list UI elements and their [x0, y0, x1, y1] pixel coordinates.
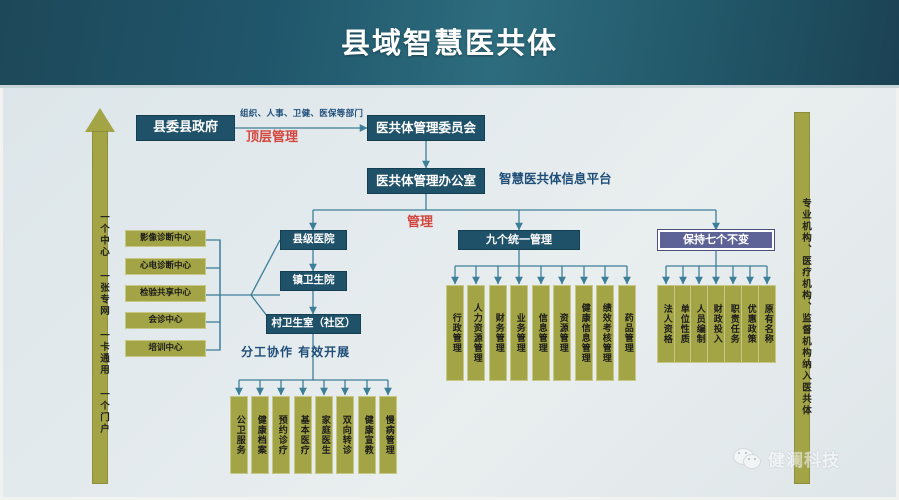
node-service-6[interactable]: 健康宣教 — [358, 396, 376, 474]
node-unified-4[interactable]: 信息管理 — [532, 285, 550, 381]
node-center-3[interactable]: 会诊中心 — [125, 312, 206, 329]
node-unchanged-4[interactable]: 职责任务 — [724, 285, 742, 363]
node-unchanged-2[interactable]: 人员编制 — [690, 285, 708, 363]
node-unchanged-3[interactable]: 财政投入 — [707, 285, 725, 363]
node-medical-consortium-office[interactable]: 医共体管理办公室 — [367, 168, 485, 194]
node-medical-consortium-committee[interactable]: 医共体管理委员会 — [367, 115, 485, 141]
node-nine-unified-title[interactable]: 九个统一管理 — [458, 230, 580, 250]
node-county-government[interactable]: 县委县政府 — [136, 115, 235, 141]
node-unchanged-6[interactable]: 原有名称 — [758, 285, 776, 363]
slide-root: 县域智慧医共体 — [0, 0, 899, 500]
one-center-arrow-label: 一个中心 一张专网 一卡通用 一个门户 — [92, 208, 108, 438]
node-unified-8[interactable]: 药品管理 — [618, 285, 636, 381]
node-unified-0[interactable]: 行政管理 — [446, 285, 464, 381]
node-center-4[interactable]: 培训中心 — [125, 340, 206, 357]
node-hospital-village[interactable]: 村卫生室（社区） — [266, 314, 361, 334]
watermark: 健澜科技 — [733, 446, 840, 471]
node-center-2[interactable]: 检验共享中心 — [125, 285, 206, 302]
departments-note: 组织、人事、卫健、医保等部门 — [240, 110, 368, 120]
node-hospital-town[interactable]: 镇卫生院 — [280, 271, 347, 291]
node-service-5[interactable]: 双向转诊 — [336, 396, 354, 474]
node-unchanged-0[interactable]: 法人资格 — [657, 285, 675, 363]
watermark-text: 健澜科技 — [768, 446, 840, 471]
node-unified-3[interactable]: 业务管理 — [510, 285, 528, 381]
node-center-0[interactable]: 影像诊断中心 — [125, 230, 206, 247]
institutions-bar: 专业机构、医疗机构、监督机构纳入医共体 — [791, 112, 813, 484]
division-cooperation-note: 分工协作 有效开展 — [241, 346, 350, 360]
node-service-3[interactable]: 基本医疗 — [294, 396, 312, 474]
node-service-2[interactable]: 预约诊疗 — [272, 396, 290, 474]
node-service-0[interactable]: 公卫服务 — [230, 396, 248, 474]
node-unified-7[interactable]: 绩效考核管理 — [596, 285, 614, 381]
one-center-arrow: 一个中心 一张专网 一卡通用 一个门户 — [85, 108, 115, 484]
node-seven-unchanged-title[interactable]: 保持七个不变 — [658, 230, 774, 250]
diagram-canvas: 一个中心 一张专网 一卡通用 一个门户 专业机构、医疗机构、监督机构纳入医共体 … — [0, 88, 899, 500]
platform-label: 智慧医共体信息平台 — [499, 172, 612, 186]
node-service-7[interactable]: 慢病管理 — [379, 396, 397, 474]
node-service-1[interactable]: 健康档案 — [251, 396, 269, 474]
slide-header: 县域智慧医共体 — [0, 0, 899, 85]
node-unified-1[interactable]: 人力资源管理 — [467, 285, 485, 381]
node-unchanged-5[interactable]: 优惠政策 — [741, 285, 759, 363]
node-unified-5[interactable]: 资源管理 — [553, 285, 571, 381]
node-service-4[interactable]: 家庭医生 — [315, 396, 333, 474]
manage-label: 管理 — [407, 216, 433, 231]
node-unified-6[interactable]: 健康信息管理 — [575, 285, 593, 381]
node-center-1[interactable]: 心电诊断中心 — [125, 258, 206, 275]
diagram-inner: 一个中心 一张专网 一卡通用 一个门户 专业机构、医疗机构、监督机构纳入医共体 … — [3, 88, 899, 500]
node-hospital-county[interactable]: 县级医院 — [280, 230, 347, 250]
node-unified-2[interactable]: 财务管理 — [489, 285, 507, 381]
wechat-icon — [733, 448, 763, 470]
page-title: 县域智慧医共体 — [0, 20, 899, 62]
institutions-bar-label: 专业机构、医疗机构、监督机构纳入医共体 — [794, 192, 810, 422]
top-level-management-label: 顶层管理 — [246, 131, 298, 146]
